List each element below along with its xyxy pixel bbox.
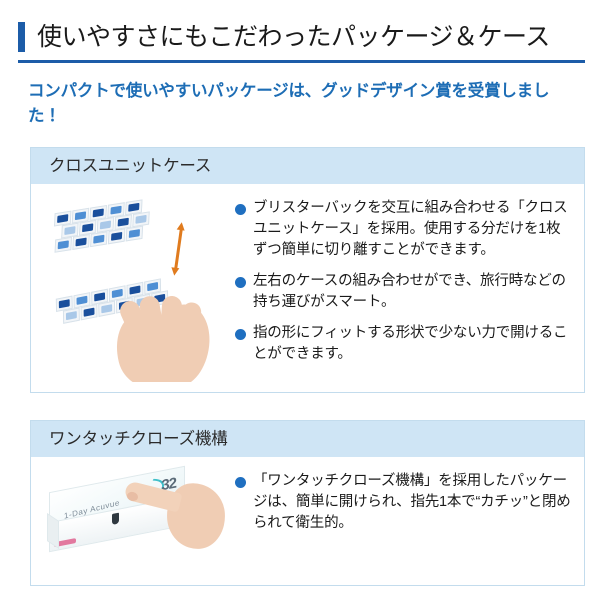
list-item: 指の形にフィットする形状で少ない力で開けることができます。 (235, 323, 574, 365)
figure-one-touch-close: 32 1-Day Acuvue (39, 465, 235, 575)
page-title: 使いやすさにもこだわったパッケージ＆ケース (37, 22, 550, 52)
blister-cell (126, 226, 143, 242)
bullet-dot-icon (235, 204, 246, 215)
header-divider (18, 60, 585, 63)
product-box-photo: 32 1-Day Acuvue (39, 465, 235, 575)
section-heading-one-touch-close: ワンタッチクローズ機構 (30, 420, 585, 457)
bullet-list-one-touch-close: 「ワンタッチクローズ機構」を採用したパッケージは、簡単に開けられ、指先1本で“カ… (235, 465, 574, 534)
product-feature-page: 使いやすさにもこだわったパッケージ＆ケース コンパクトで使いやすいパッケージは、… (0, 0, 600, 600)
bullet-dot-icon (235, 277, 246, 288)
list-item-text: ブリスターバックを交互に組み合わせる「クロスユニットケース」を採用。使用する分だ… (253, 198, 574, 261)
intro-paragraph: コンパクトで使いやすいパッケージは、グッドデザイン賞を受賞しました！ (28, 79, 578, 129)
blister-cell (108, 228, 125, 244)
blister-cell (55, 237, 72, 253)
section-heading-cross-unit-case: クロスユニットケース (30, 147, 585, 184)
blister-cell (90, 231, 107, 247)
heading-accent-bar (18, 22, 25, 52)
bullet-dot-icon (235, 329, 246, 340)
list-item: 左右のケースの組み合わせができ、旅行時などの持ち運びがスマート。 (235, 271, 574, 313)
blister-cell (72, 234, 89, 250)
blister-pack-photo (39, 192, 235, 382)
list-item: ブリスターバックを交互に組み合わせる「クロスユニットケース」を採用。使用する分だ… (235, 198, 574, 261)
section-card-one-touch-close: 32 1-Day Acuvue (30, 457, 585, 586)
separation-arrow-icon (174, 228, 183, 270)
bullet-list-cross-unit-case: ブリスターバックを交互に組み合わせる「クロスユニットケース」を採用。使用する分だ… (235, 192, 574, 365)
list-item-text: 指の形にフィットする形状で少ない力で開けることができます。 (253, 323, 574, 365)
box-close-tab (112, 513, 119, 525)
list-item: 「ワンタッチクローズ機構」を採用したパッケージは、簡単に開けられ、指先1本で“カ… (235, 471, 574, 534)
section-card-cross-unit-case: ブリスターバックを交互に組み合わせる「クロスユニットケース」を採用。使用する分だ… (30, 184, 585, 393)
list-item-text: 左右のケースの組み合わせができ、旅行時などの持ち運びがスマート。 (253, 271, 574, 313)
blister-cell (81, 304, 98, 320)
bullet-dot-icon (235, 477, 246, 488)
blister-cell (98, 301, 115, 317)
figure-cross-unit-case (39, 192, 235, 382)
list-item-text: 「ワンタッチクローズ機構」を採用したパッケージは、簡単に開けられ、指先1本で“カ… (253, 471, 574, 534)
page-header: 使いやすさにもこだわったパッケージ＆ケース (0, 0, 600, 52)
blister-cell (63, 307, 80, 323)
blister-pack-upper (53, 198, 152, 253)
